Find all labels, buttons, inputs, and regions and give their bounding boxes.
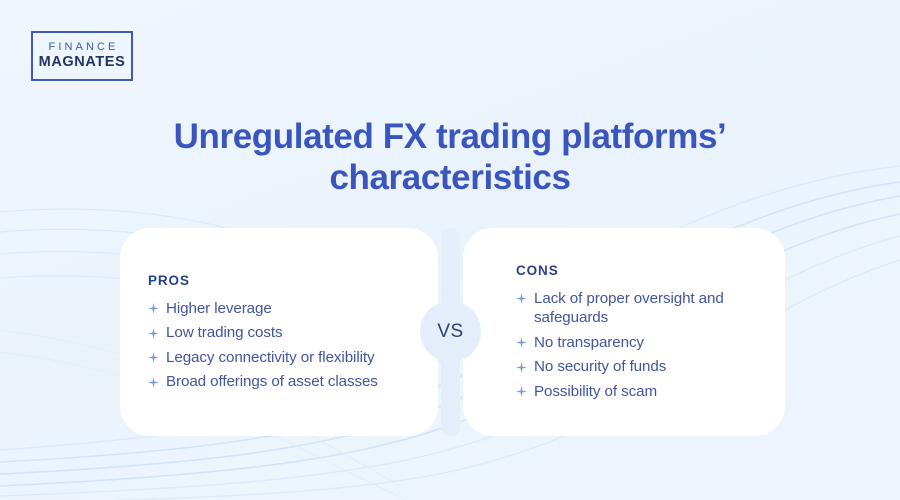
sparkle-icon [516,383,527,401]
cons-card: CONS Lack of proper oversight and safegu… [463,228,785,436]
list-item: Possibility of scam [516,382,761,402]
sparkle-icon [148,324,159,342]
cons-item-text: Possibility of scam [534,382,657,402]
list-item: No security of funds [516,357,761,377]
list-item: Higher leverage [148,299,408,319]
cons-list: Lack of proper oversight and safeguards … [516,289,761,402]
pros-item-text: Low trading costs [166,323,283,343]
page-title-line-1: Unregulated FX trading platforms’ [0,116,900,157]
logo-text-magnates: MAGNATES [39,54,126,71]
list-item: No transparency [516,333,761,353]
sparkle-icon [516,290,527,308]
sparkle-icon [516,358,527,376]
list-item: Broad offerings of asset classes [148,372,408,392]
cons-heading: CONS [516,263,761,278]
list-item: Low trading costs [148,323,408,343]
sparkle-icon [148,373,159,391]
sparkle-icon [516,334,527,352]
pros-heading: PROS [148,273,408,288]
pros-item-text: Legacy connectivity or flexibility [166,348,374,368]
finance-magnates-logo[interactable]: FINANCE MAGNATES [31,31,133,81]
pros-item-text: Higher leverage [166,299,272,319]
pros-list: Higher leverage Low trading costs Legacy… [148,299,408,392]
pros-item-text: Broad offerings of asset classes [166,372,378,392]
sparkle-icon [148,300,159,318]
vs-label: VS [437,321,463,343]
logo-text-finance: FINANCE [46,41,119,54]
sparkle-icon [148,349,159,367]
pros-card: PROS Higher leverage Low trading costs [120,228,438,436]
cons-item-text: No security of funds [534,357,666,377]
page-title-line-2: characteristics [0,157,900,198]
infographic-canvas: FINANCE MAGNATES Unregulated FX trading … [0,0,900,500]
list-item: Legacy connectivity or flexibility [148,348,408,368]
cons-item-text: Lack of proper oversight and safeguards [534,289,739,328]
page-title: Unregulated FX trading platforms’ charac… [0,116,900,198]
list-item: Lack of proper oversight and safeguards [516,289,761,328]
vs-badge: VS [420,301,481,362]
cons-item-text: No transparency [534,333,644,353]
